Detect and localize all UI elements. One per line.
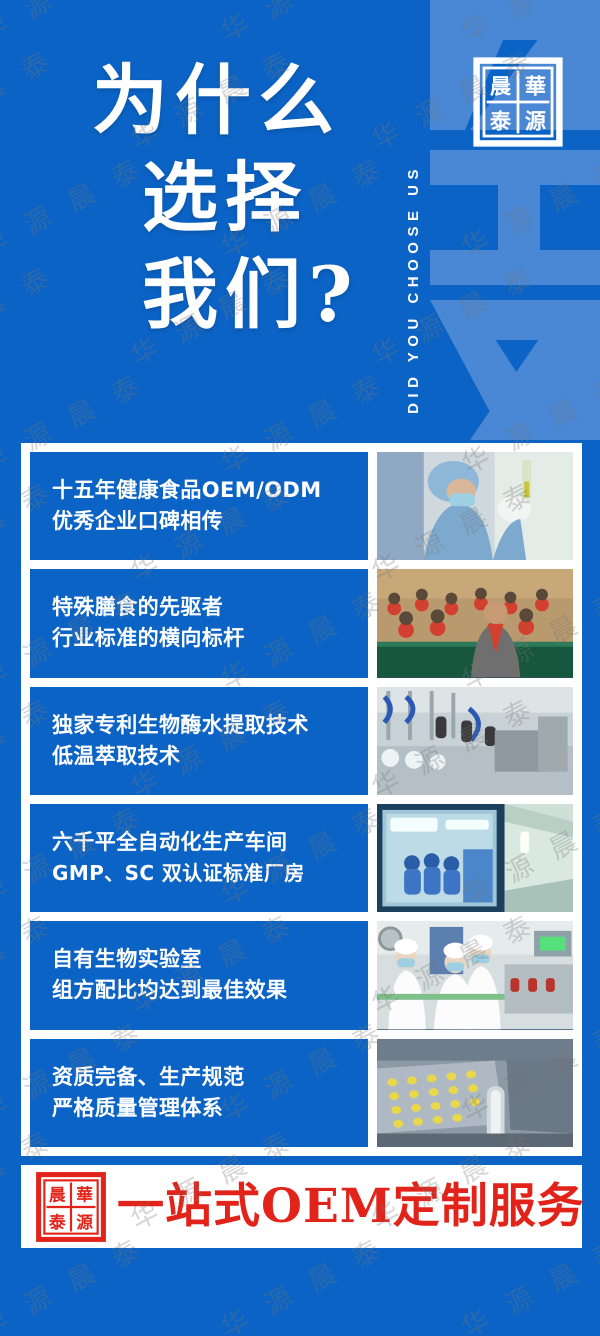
features-panel: 十五年健康食品OEM/ODM 优秀企业口碑相传	[21, 443, 582, 1156]
feature-line-2: 行业标准的横向标杆	[52, 623, 368, 654]
feature-line-1: 自有生物实验室	[52, 944, 368, 975]
feature-thumbnail	[377, 452, 573, 560]
feature-row: 六千平全自动化生产车间 GMP、SC 双认证标准厂房	[30, 804, 573, 912]
workers-white-coats-image	[377, 921, 573, 1029]
headline-line-1: 为什么	[92, 52, 360, 149]
poster-root: 为什么 选择 我们? DID YOU CHOOSE US 晨 華 泰 源	[0, 0, 600, 1336]
page-title: 为什么 选择 我们?	[92, 52, 360, 343]
feature-line-2: 组方配比均达到最佳效果	[52, 975, 368, 1006]
feature-thumbnail	[377, 804, 573, 912]
feature-row: 十五年健康食品OEM/ODM 优秀企业口碑相传	[30, 452, 573, 560]
feature-thumbnail	[377, 687, 573, 795]
conference-audience-image	[377, 569, 573, 677]
footer-seal-glyph-top-right: 華	[76, 1184, 93, 1204]
feature-line-2: 低温萃取技术	[52, 741, 368, 772]
cleanroom-corridor-image	[377, 804, 573, 912]
feature-row: 独家专利生物酶水提取技术 低温萃取技术	[30, 687, 573, 795]
feature-row: 特殊膳食的先驱者 行业标准的横向标杆	[30, 569, 573, 677]
seal-glyph-bottom-right: 源	[525, 109, 546, 134]
footer-seal-glyph-bottom-left: 泰	[49, 1211, 66, 1231]
feature-text-block: 自有生物实验室 组方配比均达到最佳效果	[30, 921, 368, 1029]
blister-packaging-image	[377, 1039, 573, 1147]
header-section: 为什么 选择 我们? DID YOU CHOOSE US 晨 華 泰 源	[0, 0, 600, 440]
feature-text-block: 资质完备、生产规范 严格质量管理体系	[30, 1039, 368, 1147]
feature-text-block: 十五年健康食品OEM/ODM 优秀企业口碑相传	[30, 452, 368, 560]
feature-thumbnail	[377, 569, 573, 677]
seal-icon: 晨 華 泰 源	[472, 56, 564, 148]
headline-line-2: 选择	[92, 149, 360, 246]
seal-glyph-top-left: 晨	[490, 74, 512, 99]
footer-seal-logo: 晨 華 泰 源	[35, 1171, 107, 1243]
feature-row: 资质完备、生产规范 严格质量管理体系	[30, 1039, 573, 1147]
feature-text-block: 特殊膳食的先驱者 行业标准的横向标杆	[30, 569, 368, 677]
feature-line-1: 资质完备、生产规范	[52, 1062, 368, 1093]
vertical-tagline-text: DID YOU CHOOSE US	[405, 164, 422, 414]
feature-row: 自有生物实验室 组方配比均达到最佳效果	[30, 921, 573, 1029]
company-seal-logo: 晨 華 泰 源	[472, 56, 564, 148]
feature-line-1: 特殊膳食的先驱者	[52, 592, 368, 623]
footer-seal-glyph-bottom-right: 源	[76, 1211, 93, 1231]
headline-line-3: 我们?	[92, 246, 360, 343]
seal-glyph-top-right: 華	[525, 74, 546, 99]
footer-seal-glyph-top-left: 晨	[49, 1184, 66, 1204]
feature-line-1: 独家专利生物酶水提取技术	[52, 710, 368, 741]
feature-line-2: 严格质量管理体系	[52, 1093, 368, 1124]
lab-technician-image	[377, 452, 573, 560]
feature-text-block: 六千平全自动化生产车间 GMP、SC 双认证标准厂房	[30, 804, 368, 912]
footer-banner: 晨 華 泰 源 一站式OEM定制服务	[21, 1165, 582, 1248]
watermark-row: 华 源 晨 泰华 源 晨 泰华 源 晨 泰华 源 晨 泰华 源 晨 泰	[0, 1266, 600, 1305]
seal-glyph-bottom-left: 泰	[490, 109, 512, 134]
feature-line-2: 优秀企业口碑相传	[52, 506, 368, 537]
feature-thumbnail	[377, 1039, 573, 1147]
filling-machine-image	[377, 687, 573, 795]
feature-line-1: 十五年健康食品OEM/ODM	[52, 475, 368, 506]
footer-banner-text: 一站式OEM定制服务	[117, 1183, 585, 1230]
features-list: 十五年健康食品OEM/ODM 优秀企业口碑相传	[30, 452, 573, 1147]
feature-line-1: 六千平全自动化生产车间	[52, 827, 368, 858]
feature-line-2: GMP、SC 双认证标准厂房	[52, 858, 368, 889]
feature-text-block: 独家专利生物酶水提取技术 低温萃取技术	[30, 687, 368, 795]
feature-thumbnail	[377, 921, 573, 1029]
vertical-tagline: DID YOU CHOOSE US	[400, 24, 426, 414]
seal-icon-red: 晨 華 泰 源	[35, 1171, 107, 1243]
